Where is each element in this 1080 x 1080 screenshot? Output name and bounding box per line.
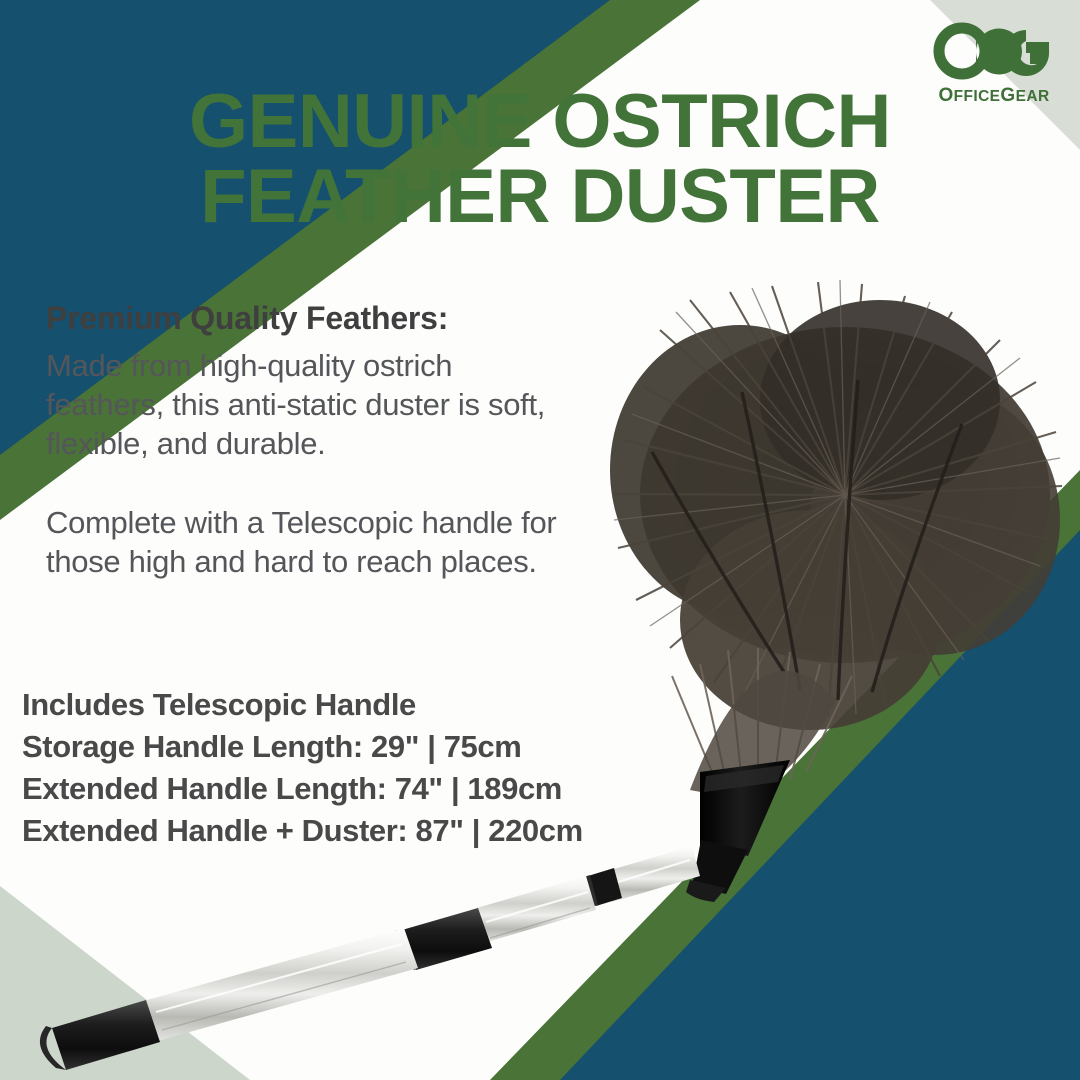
product-infographic: OFFICEGEAR GENUINE OSTRICH FEATHER DUSTE… [0, 0, 1080, 1080]
spec-item-3: Extended Handle + Duster: 87" | 220cm [22, 810, 722, 852]
title-line-1: GENUINE OSTRICH [90, 84, 990, 159]
spec-item-2: Extended Handle Length: 74" | 189cm [22, 768, 722, 810]
officegear-og-monogram-icon [930, 18, 1058, 84]
description-block: Premium Quality Feathers: Made from high… [46, 300, 566, 581]
spec-item-1: Storage Handle Length: 29" | 75cm [22, 726, 722, 768]
title-line-2: FEATHER DUSTER [90, 159, 990, 234]
specification-list: Includes Telescopic Handle Storage Handl… [22, 684, 722, 853]
copy-heading: Premium Quality Feathers: [46, 300, 566, 337]
copy-paragraph-1: Made from high-quality ostrich feathers,… [46, 346, 566, 463]
page-title: GENUINE OSTRICH FEATHER DUSTER [90, 84, 990, 234]
spec-item-0: Includes Telescopic Handle [22, 684, 722, 726]
copy-paragraph-2: Complete with a Telescopic handle for th… [46, 503, 566, 581]
